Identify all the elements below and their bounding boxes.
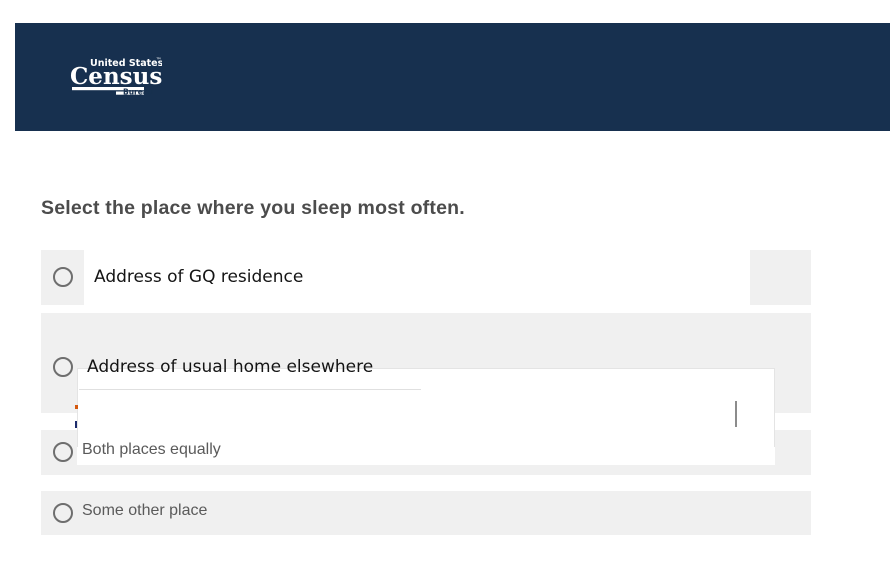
render-glitch-mark-secondary (75, 421, 77, 428)
radio-unchecked-icon[interactable] (53, 357, 73, 377)
overlay-artifact-row2-main (77, 368, 775, 448)
option-row-some-other-place[interactable]: Some other place (41, 491, 811, 535)
radio-unchecked-icon[interactable] (53, 503, 73, 523)
svg-text:Census: Census (70, 63, 162, 90)
radio-unchecked-icon[interactable] (53, 267, 73, 287)
svg-text:Bureau: Bureau (123, 88, 153, 97)
option-label: Address of usual home elsewhere (87, 357, 373, 377)
radio-unchecked-icon[interactable] (53, 442, 73, 462)
option-label: Address of GQ residence (94, 267, 303, 287)
render-glitch-mark (75, 405, 78, 409)
page-title: Select the place where you sleep most of… (41, 194, 831, 222)
option-label: Both places equally (82, 441, 221, 459)
overlay-divider-line (79, 389, 421, 390)
census-bureau-logo[interactable]: United States ™ Census Bureau (70, 55, 162, 97)
option-row-gq-residence[interactable]: Address of GQ residence (41, 250, 811, 305)
option-row-usual-home-elsewhere[interactable]: Address of usual home elsewhere (41, 313, 811, 413)
site-header: United States ™ Census Bureau (15, 23, 890, 131)
overlay-edge-tick (735, 401, 737, 427)
option-label: Some other place (82, 502, 207, 520)
